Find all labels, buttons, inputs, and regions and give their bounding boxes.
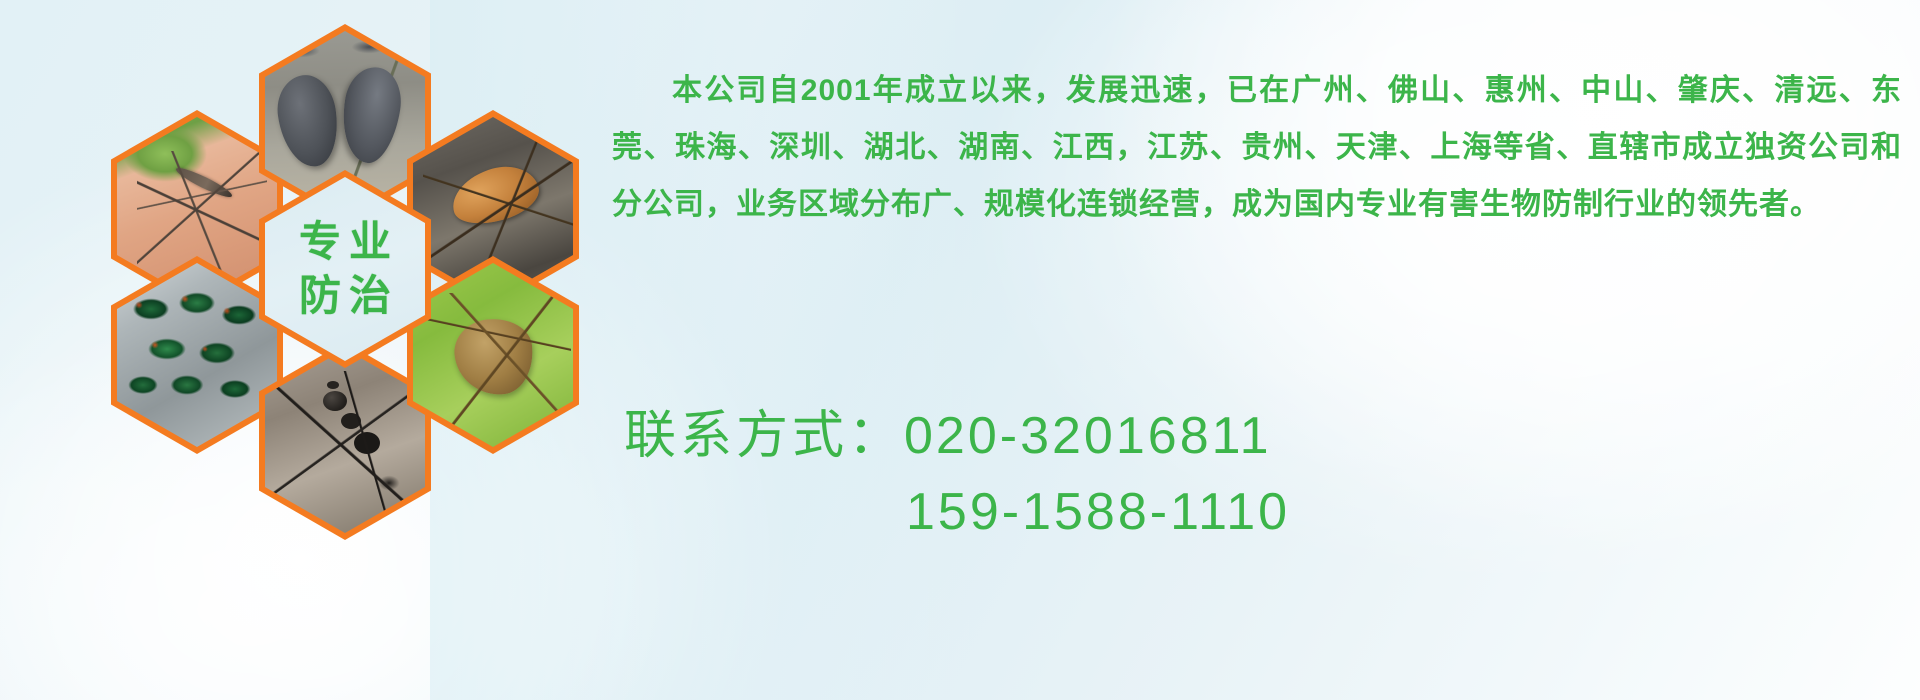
contact-block: 联系方式：020-32016811 159-1588-1110 [624,398,1824,550]
hex-cell-ants [259,342,431,540]
copy-column: 本公司自2001年成立以来，发展迅速，已在广州、佛山、惠州、中山、肇庆、清远、东… [612,32,1902,263]
hex-inner-flies [117,263,277,447]
hex-cell-stink-bug [407,256,579,454]
contact-phone-mobile[interactable]: 159-1588-1110 [906,483,1290,541]
slogan-line-1: 专业 [291,215,399,269]
contact-landline-line: 联系方式：020-32016811 [624,398,1824,474]
hex-inner-ants [265,349,425,533]
company-intro-paragraph: 本公司自2001年成立以来，发展迅速，已在广州、佛山、惠州、中山、肇庆、清远、东… [612,62,1902,233]
hex-cell-flies [111,256,283,454]
flies-photo [117,263,277,447]
promotional-banner: 专业 防治 本公司自2001年成立以来，发展迅速，已在广州、佛山、惠州、中山、肇… [0,0,1920,700]
slogan-line-2: 防治 [291,269,399,323]
ants-photo [265,349,425,533]
contact-mobile-line: 159-1588-1110 [624,474,1824,550]
contact-label: 联系方式： [624,407,904,465]
hex-inner-stink-bug [413,263,573,447]
contact-phone-landline[interactable]: 020-32016811 [904,407,1272,465]
stink-bug-photo [413,263,573,447]
hex-inner-center-slogan: 专业 防治 [265,177,425,361]
hexagon-image-cluster: 专业 防治 [95,10,595,570]
hex-cell-center-slogan: 专业 防治 [259,170,431,368]
